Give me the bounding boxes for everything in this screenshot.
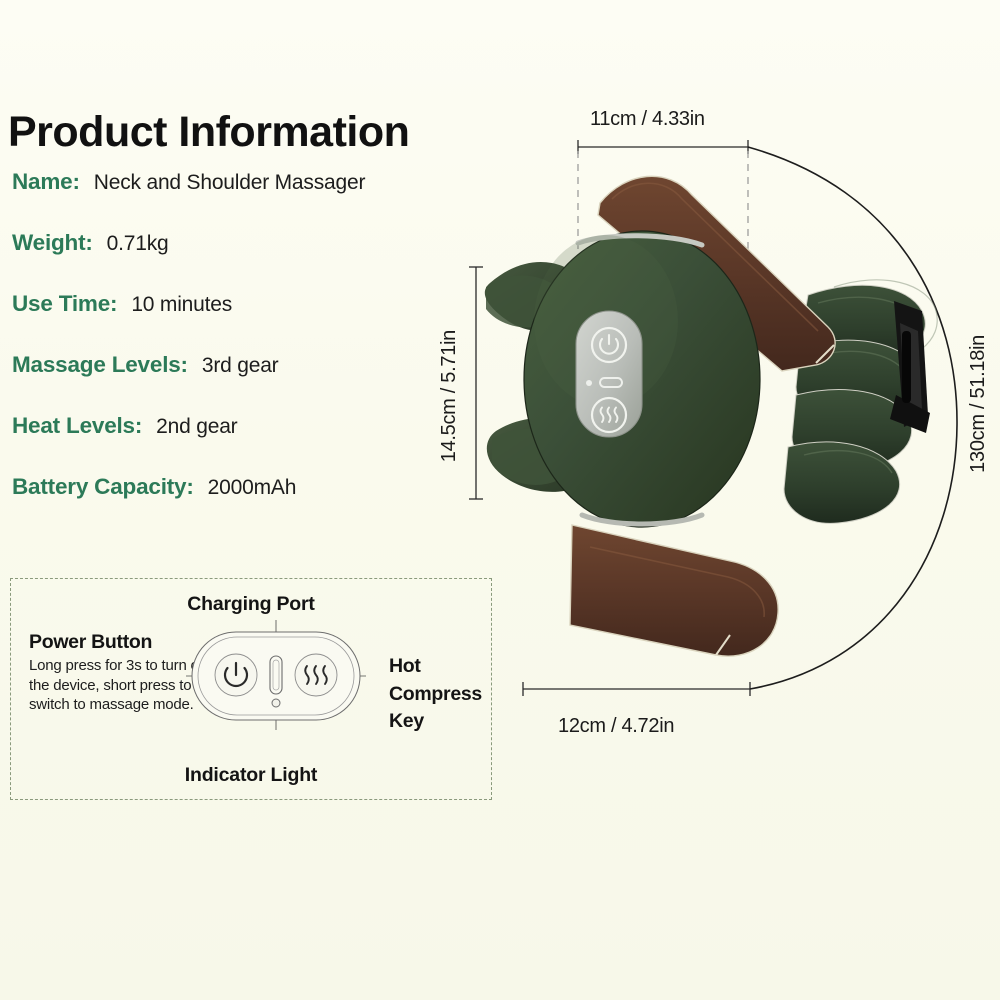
product-photo-area: 11cm / 4.33in 12cm / 4.72in 14.5cm / 5.7…	[430, 95, 1000, 755]
spec-label: Massage Levels:	[12, 352, 188, 378]
spec-row-name: Name: Neck and Shoulder Massager	[12, 169, 500, 230]
spec-value: 10 minutes	[131, 293, 232, 317]
indicator-light-label: Indicator Light	[11, 764, 491, 787]
spec-label: Name:	[12, 169, 80, 195]
dimension-label-top: 11cm / 4.33in	[590, 108, 705, 131]
dimension-guide-top	[578, 140, 748, 154]
dimension-guide-bottom	[523, 682, 750, 696]
spec-row-weight: Weight: 0.71kg	[12, 230, 500, 291]
product-illustration	[430, 95, 1000, 755]
spec-value: Neck and Shoulder Massager	[94, 171, 365, 195]
page-title: Product Information	[8, 110, 500, 155]
spec-label: Battery Capacity:	[12, 474, 194, 500]
control-panel-diagram	[186, 618, 366, 738]
spec-value: 2nd gear	[156, 415, 237, 439]
spec-value: 0.71kg	[107, 232, 169, 256]
spec-value: 2000mAh	[208, 476, 297, 500]
spec-label: Heat Levels:	[12, 413, 142, 439]
spec-label: Use Time:	[12, 291, 117, 317]
charging-port-slot	[270, 656, 282, 694]
spec-label: Weight:	[12, 230, 93, 256]
dimension-label-right: 130cm / 51.18in	[967, 335, 990, 473]
power-button-callout: Power Button Long press for 3s to turn o…	[29, 631, 209, 715]
product-info-panel: Product Information Name: Neck and Shoul…	[0, 110, 500, 535]
charging-port-label: Charging Port	[11, 593, 491, 616]
spec-row-massage-levels: Massage Levels: 3rd gear	[12, 352, 500, 413]
dimension-label-left: 14.5cm / 5.71in	[438, 330, 461, 462]
product-information-page: Product Information Name: Neck and Shoul…	[0, 0, 1000, 1000]
body-indicator-light	[586, 380, 592, 386]
indicator-light-dot	[272, 699, 280, 707]
lower-brown-strap	[570, 525, 778, 656]
power-button-description: Long press for 3s to turn on the device,…	[29, 656, 209, 715]
spec-row-use-time: Use Time: 10 minutes	[12, 291, 500, 352]
dimension-label-bottom: 12cm / 4.72in	[558, 715, 674, 738]
spec-row-battery-capacity: Battery Capacity: 2000mAh	[12, 474, 500, 535]
power-button-title: Power Button	[29, 631, 209, 654]
spec-row-heat-levels: Heat Levels: 2nd gear	[12, 413, 500, 474]
body-control-panel[interactable]	[576, 311, 642, 437]
spec-value: 3rd gear	[202, 354, 279, 378]
dimension-guide-left	[469, 267, 483, 499]
